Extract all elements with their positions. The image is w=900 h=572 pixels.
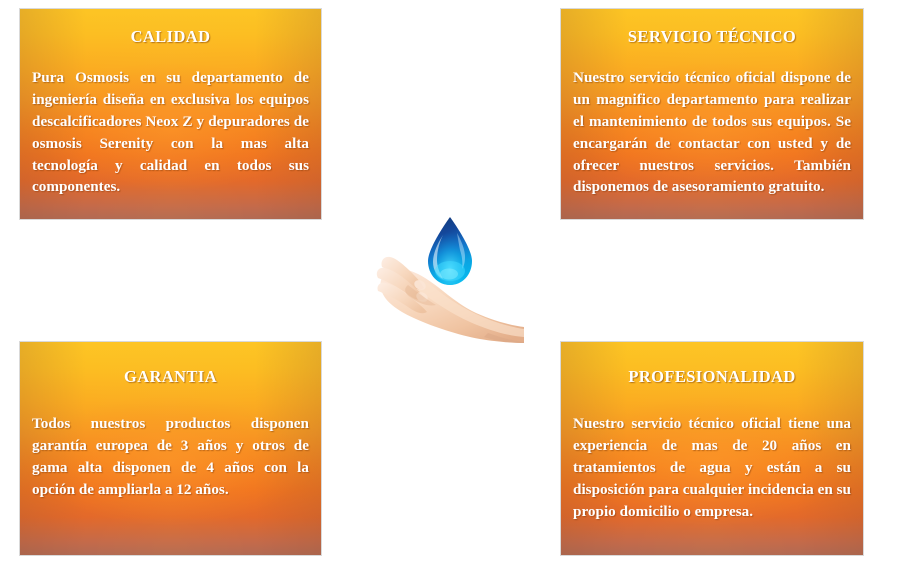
hand-holding-water-drop-graphic (368, 215, 528, 350)
panel-profesionalidad: PROFESIONALIDAD Nuestro servicio técnico… (560, 341, 864, 556)
panel-title-garantia: GARANTIA (32, 367, 309, 387)
panel-title-servicio-tecnico: SERVICIO TÉCNICO (573, 27, 851, 47)
panel-servicio-tecnico: SERVICIO TÉCNICO Nuestro servicio técnic… (560, 8, 864, 220)
panel-body-garantia: Todos nuestros productos disponen garant… (32, 413, 309, 501)
panel-content: GARANTIA Todos nuestros productos dispon… (20, 367, 321, 501)
water-drop-icon (428, 217, 472, 285)
panel-content: CALIDAD Pura Osmosis en su departamento … (20, 27, 321, 198)
panel-garantia: GARANTIA Todos nuestros productos dispon… (19, 341, 322, 556)
poster-canvas: CALIDAD Pura Osmosis en su departamento … (0, 0, 900, 572)
panel-content: PROFESIONALIDAD Nuestro servicio técnico… (561, 367, 863, 522)
panel-body-calidad: Pura Osmosis en su departamento de ingen… (32, 67, 309, 198)
panel-content: SERVICIO TÉCNICO Nuestro servicio técnic… (561, 27, 863, 198)
panel-title-calidad: CALIDAD (32, 27, 309, 47)
panel-body-profesionalidad: Nuestro servicio técnico oficial tiene u… (573, 413, 851, 522)
panel-body-servicio-tecnico: Nuestro servicio técnico oficial dispone… (573, 67, 851, 198)
panel-title-profesionalidad: PROFESIONALIDAD (573, 367, 851, 387)
panel-calidad: CALIDAD Pura Osmosis en su departamento … (19, 8, 322, 220)
